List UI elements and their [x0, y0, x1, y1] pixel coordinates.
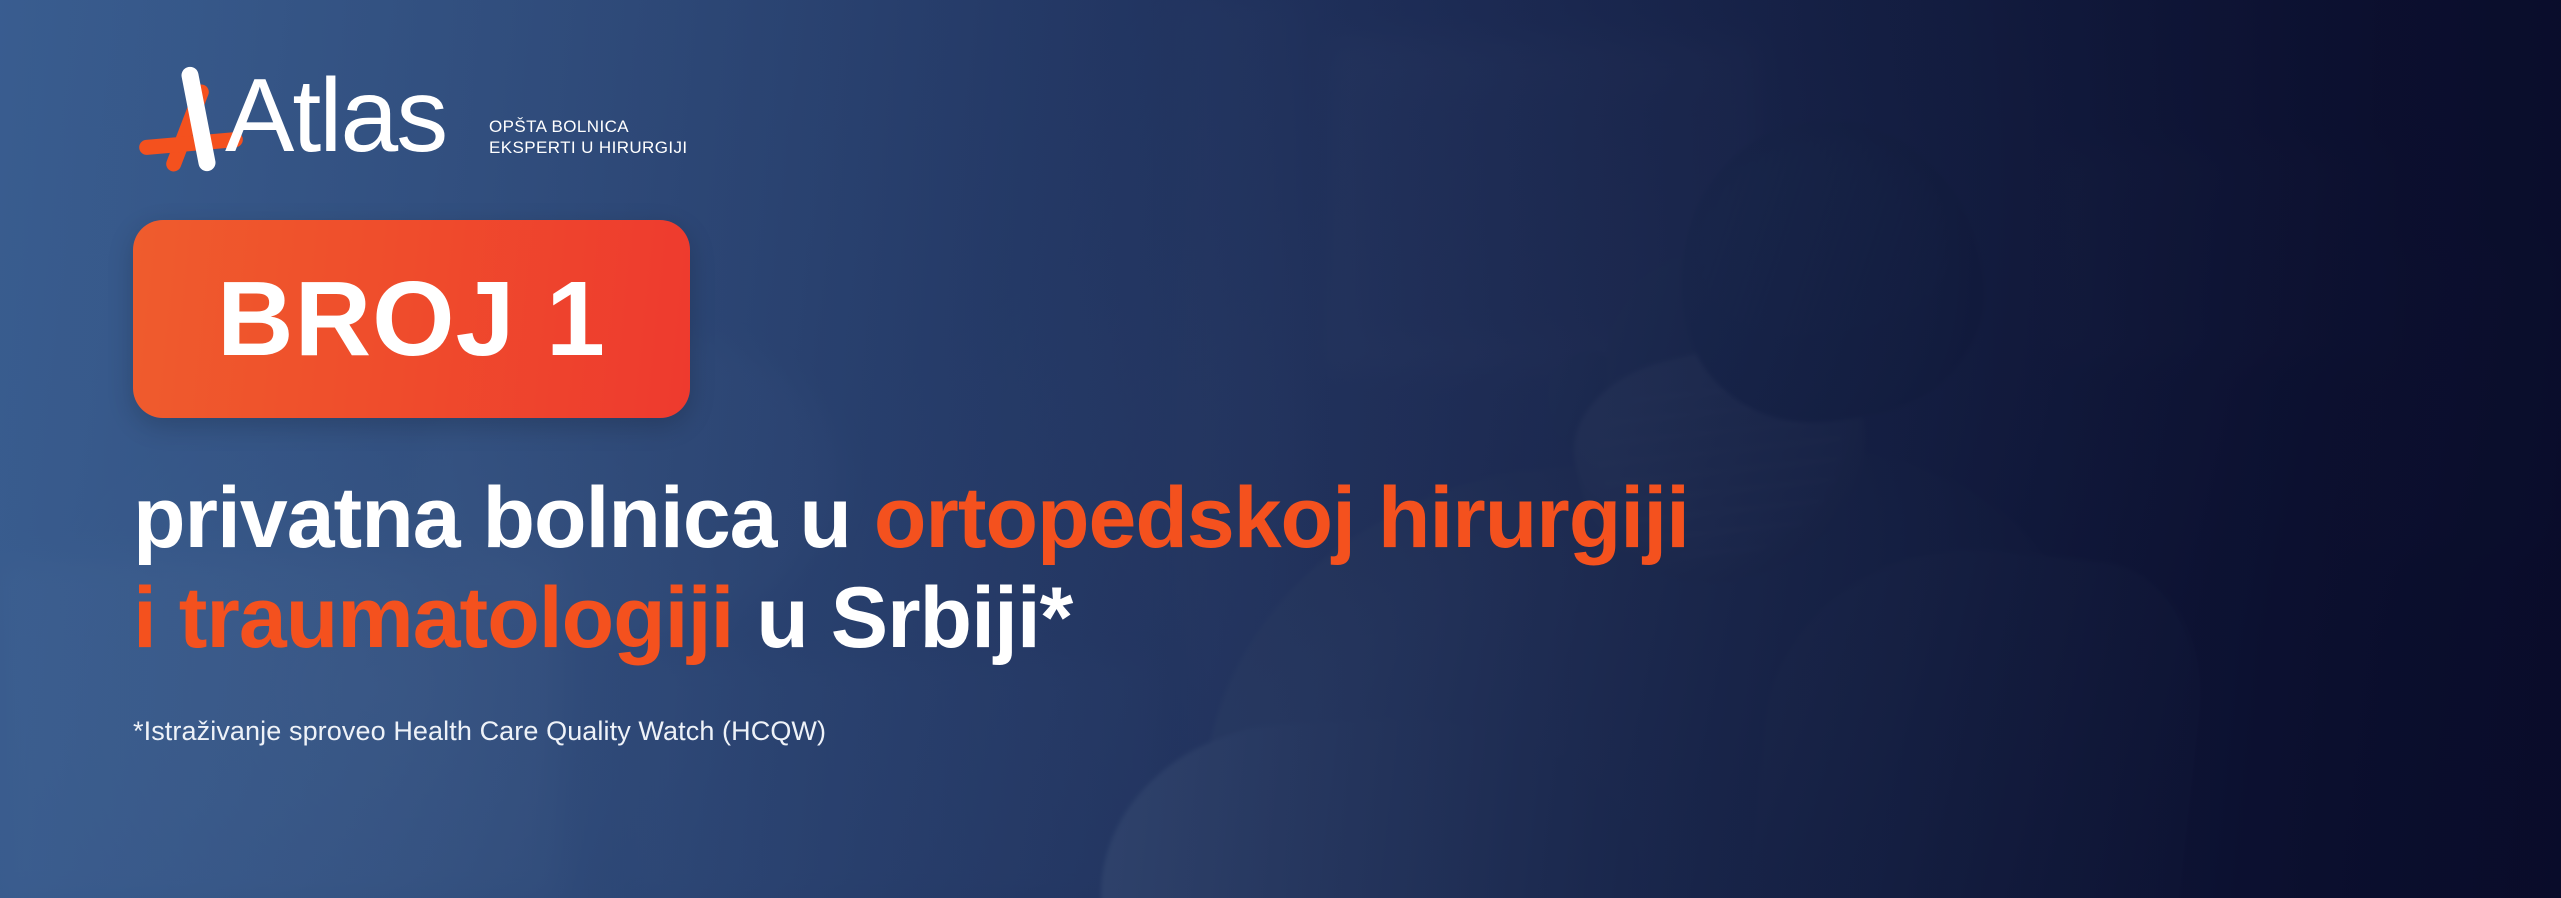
logo-tagline-line2: EKSPERTI U HIRURGIJI	[489, 137, 688, 158]
headline-space-2	[733, 570, 756, 666]
logo-tagline-line1: OPŠTA BOLNICA	[489, 116, 688, 137]
headline-line2-white: u Srbiji*	[756, 570, 1072, 666]
headline-line1-orange: ortopedskoj hirurgiji	[874, 470, 1689, 566]
logo-wordmark: Atlas	[225, 62, 446, 170]
headline-line1-white: privatna bolnica u	[133, 470, 851, 566]
atlas-logo-mark: Atlas	[133, 68, 403, 172]
rank-badge: BROJ 1	[133, 220, 690, 418]
logo-tagline: OPŠTA BOLNICA EKSPERTI U HIRURGIJI	[489, 116, 688, 158]
banner-content: Atlas OPŠTA BOLNICA EKSPERTI U HIRURGIJI…	[0, 0, 2561, 898]
rank-badge-label: BROJ 1	[217, 266, 606, 372]
headline-line-1: privatna bolnica u ortopedskoj hirurgiji	[133, 468, 2233, 568]
headline-space-1	[851, 470, 874, 566]
hero-banner: Atlas OPŠTA BOLNICA EKSPERTI U HIRURGIJI…	[0, 0, 2561, 898]
headline-line2-orange: i traumatologiji	[133, 570, 733, 666]
headline-line-2: i traumatologiji u Srbiji*	[133, 568, 2233, 668]
brand-logo[interactable]: Atlas OPŠTA BOLNICA EKSPERTI U HIRURGIJI	[133, 68, 2561, 172]
page-title: privatna bolnica u ortopedskoj hirurgiji…	[133, 468, 2233, 668]
footnote-text: *Istraživanje sproveo Health Care Qualit…	[133, 714, 2561, 748]
